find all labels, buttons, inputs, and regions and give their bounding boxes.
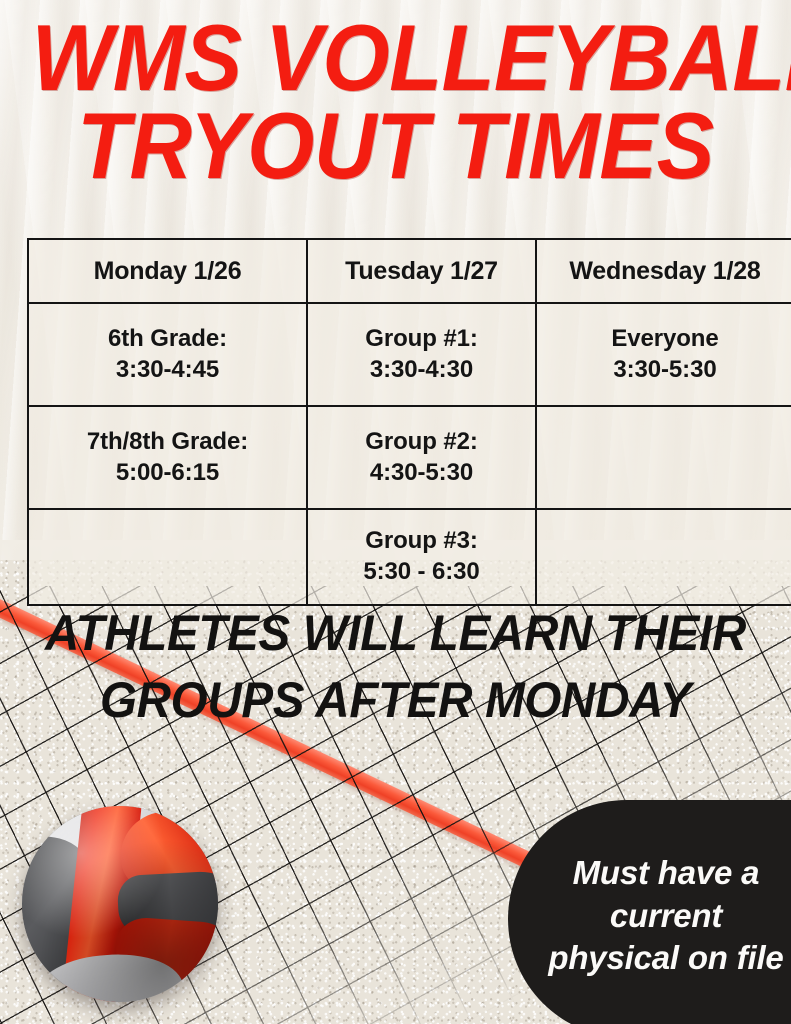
cell-label: Group #3: (312, 526, 531, 557)
volleyball-graphic (22, 806, 218, 1002)
cell-wednesday-row2 (536, 406, 791, 509)
banner-line-1: ATHLETES WILL LEARN THEIR (20, 600, 771, 667)
cell-wednesday-row3 (536, 509, 791, 605)
cell-tuesday-row2: Group #2: 4:30-5:30 (307, 406, 536, 509)
title-line-2: TRYOUT TIMES (32, 102, 760, 190)
column-header-monday: Monday 1/26 (28, 239, 307, 303)
ball-shading (22, 806, 218, 1002)
cell-wednesday-row1: Everyone 3:30-5:30 (536, 303, 791, 406)
cell-label: Group #1: (312, 324, 531, 355)
tryout-schedule-table: Monday 1/26 Tuesday 1/27 Wednesday 1/28 … (27, 238, 791, 606)
cell-time: 3:30-4:45 (33, 355, 302, 386)
cell-monday-row1: 6th Grade: 3:30-4:45 (28, 303, 307, 406)
cell-tuesday-row1: Group #1: 3:30-4:30 (307, 303, 536, 406)
cell-label: Everyone (541, 324, 789, 355)
cell-time: 3:30-5:30 (541, 355, 789, 386)
column-header-tuesday: Tuesday 1/27 (307, 239, 536, 303)
cell-time: 5:00-6:15 (33, 458, 302, 489)
volleyball-tryout-flyer: WMS VOLLEYBALL TRYOUT TIMES Monday 1/26 … (0, 0, 791, 1024)
title-line-1: WMS VOLLEYBALL (32, 14, 760, 102)
badge-label: Must have a current physical on file (542, 852, 790, 981)
table-row: 7th/8th Grade: 5:00-6:15 Group #2: 4:30-… (28, 406, 791, 509)
cell-monday-row2: 7th/8th Grade: 5:00-6:15 (28, 406, 307, 509)
table-row: Group #3: 5:30 - 6:30 (28, 509, 791, 605)
banner-line-2: GROUPS AFTER MONDAY (20, 667, 771, 734)
cell-time: 5:30 - 6:30 (312, 557, 531, 588)
cell-time: 4:30-5:30 (312, 458, 531, 489)
cell-label: 6th Grade: (33, 324, 302, 355)
cell-time: 3:30-4:30 (312, 355, 531, 386)
table-row: 6th Grade: 3:30-4:45 Group #1: 3:30-4:30… (28, 303, 791, 406)
page-title: WMS VOLLEYBALL TRYOUT TIMES (0, 14, 791, 191)
column-header-wednesday: Wednesday 1/28 (536, 239, 791, 303)
cell-monday-row3 (28, 509, 307, 605)
table-header-row: Monday 1/26 Tuesday 1/27 Wednesday 1/28 (28, 239, 791, 303)
cell-tuesday-row3: Group #3: 5:30 - 6:30 (307, 509, 536, 605)
banner-message: ATHLETES WILL LEARN THEIR GROUPS AFTER M… (0, 600, 791, 734)
cell-label: Group #2: (312, 427, 531, 458)
cell-label: 7th/8th Grade: (33, 427, 302, 458)
status-badge: Must have a current physical on file (508, 800, 791, 1024)
